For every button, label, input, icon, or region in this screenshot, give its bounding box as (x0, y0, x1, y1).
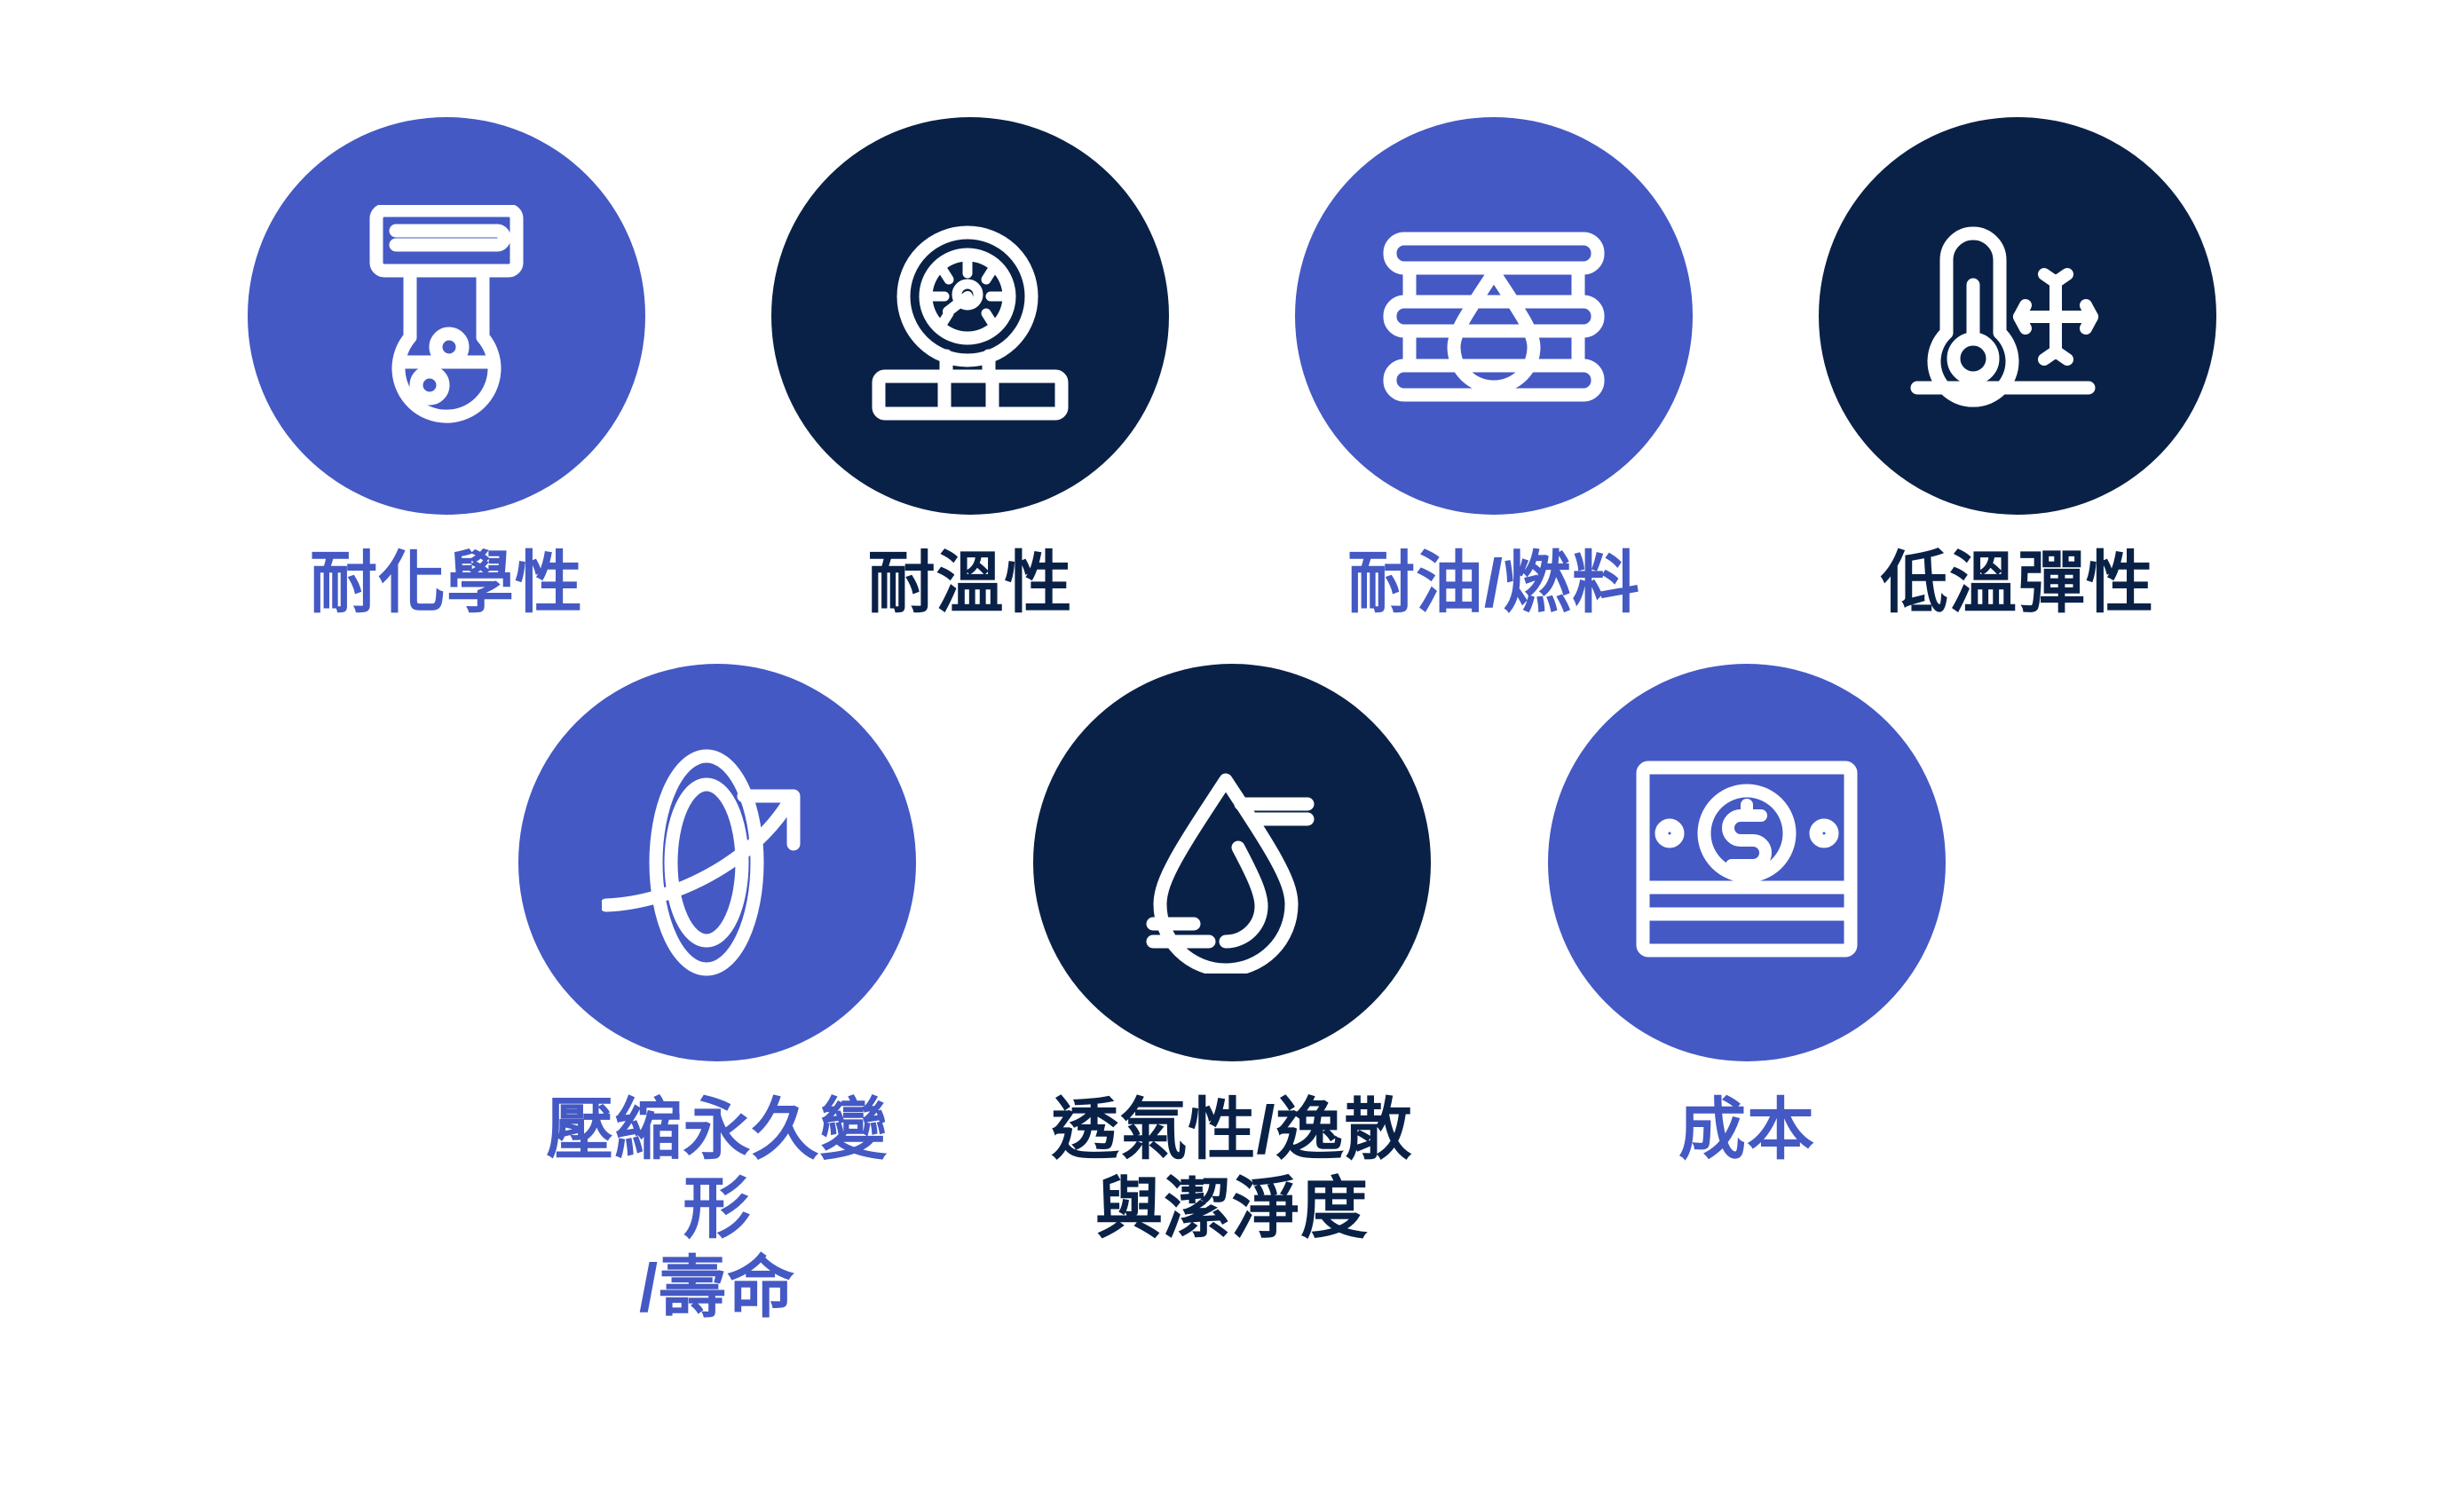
feature-label-chemical-resistance: 耐化學性 (310, 545, 583, 623)
pressure-gauge-icon (859, 205, 1081, 427)
feature-label-cost: 成本 (1678, 1092, 1815, 1170)
icon-badge-permeation-cleanliness[interactable] (1033, 664, 1431, 1061)
flask-icon (344, 205, 549, 427)
feature-card-temperature-resistance[interactable]: 耐溫性 (770, 117, 1171, 623)
banknote-dollar-icon (1636, 761, 1858, 965)
feature-label-permeation-cleanliness: 透氣性/逸散 與潔淨度 (1051, 1092, 1412, 1250)
icon-badge-cost[interactable] (1548, 664, 1946, 1061)
icon-badge-temperature-resistance[interactable] (771, 117, 1169, 515)
compression-set-icon (602, 747, 833, 978)
thermometer-snowflake-icon (1907, 205, 2128, 427)
feature-card-chemical-resistance[interactable]: 耐化學性 (246, 117, 647, 623)
permeation-droplet-icon (1121, 752, 1343, 974)
feature-card-low-temp-flexibility[interactable]: 低溫彈性 (1817, 117, 2218, 623)
feature-card-cost[interactable]: 成本 (1546, 664, 1947, 1170)
icon-grid: 耐化學性 (0, 0, 2464, 1490)
feature-card-permeation-cleanliness[interactable]: 透氣性/逸散 與潔淨度 (1031, 664, 1433, 1250)
feature-label-oil-fuel-resistance: 耐油/燃料 (1347, 545, 1640, 623)
icon-row-1: 耐化學性 (246, 117, 2218, 623)
feature-label-compression-set: 壓縮永久變形 /壽命 (517, 1092, 918, 1328)
feature-card-oil-fuel-resistance[interactable]: 耐油/燃料 (1293, 117, 1694, 623)
oil-barrel-icon (1383, 205, 1605, 427)
feature-card-compression-set[interactable]: 壓縮永久變形 /壽命 (517, 664, 918, 1328)
icon-badge-low-temp-flexibility[interactable] (1819, 117, 2216, 515)
icon-badge-oil-fuel-resistance[interactable] (1295, 117, 1693, 515)
feature-label-temperature-resistance: 耐溫性 (868, 545, 1073, 623)
icon-row-2: 壓縮永久變形 /壽命 透氣性/逸散 與潔淨度 (517, 664, 1947, 1328)
icon-badge-compression-set[interactable] (518, 664, 916, 1061)
feature-label-low-temp-flexibility: 低溫彈性 (1881, 545, 2154, 623)
icon-badge-chemical-resistance[interactable] (248, 117, 645, 515)
